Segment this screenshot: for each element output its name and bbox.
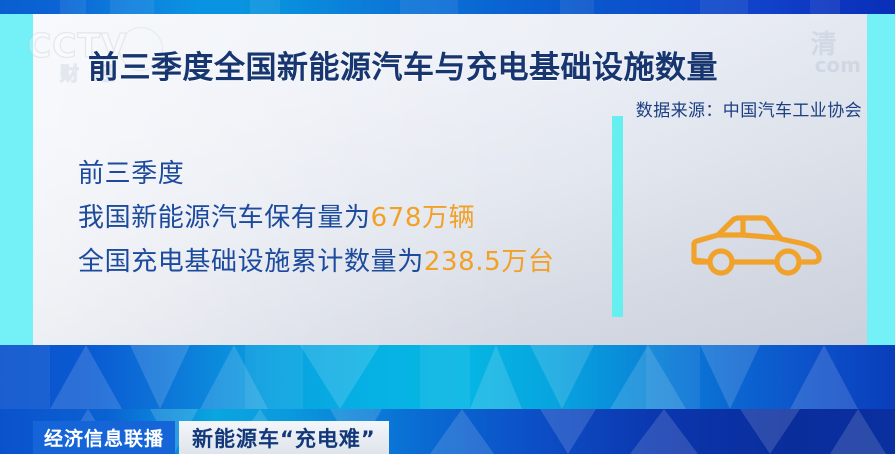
charging-infra-prefix: 全国充电基础设施累计数量为 <box>78 247 424 277</box>
statistics-text-block: 前三季度 我国新能源汽车保有量为678万辆 全国充电基础设施累计数量为238.5… <box>78 152 598 284</box>
body-line-period-text: 前三季度 <box>78 159 184 189</box>
cyan-accent-bar <box>612 116 623 317</box>
right-cyan-rail <box>867 14 895 345</box>
car-icon <box>688 210 828 280</box>
ticker-program-name[interactable]: 经济信息联播 <box>33 421 175 454</box>
body-line-nev-ownership: 我国新能源汽车保有量为678万辆 <box>78 196 598 240</box>
nev-ownership-value: 678万辆 <box>371 203 476 233</box>
data-source-label: 数据来源：中国汽车工业协会 <box>636 96 862 121</box>
page-title: 前三季度全国新能源汽车与充电基础设施数量 <box>88 42 828 87</box>
bottom-ticker: 经济信息联播 新能源车“充电难” <box>33 421 389 454</box>
ticker-headline[interactable]: 新能源车“充电难” <box>179 421 389 454</box>
broadcast-screen: CCTV 财经 清 com 前三季度全国新能源汽车与充电基础设施数量 数据来源：… <box>0 0 895 454</box>
top-decorative-strip <box>0 0 895 14</box>
left-cyan-rail <box>0 14 33 345</box>
body-line-period: 前三季度 <box>78 152 598 196</box>
nev-ownership-prefix: 我国新能源汽车保有量为 <box>78 203 371 233</box>
charging-infra-value: 238.5万台 <box>424 247 555 277</box>
body-line-charging-infra: 全国充电基础设施累计数量为238.5万台 <box>78 240 598 284</box>
